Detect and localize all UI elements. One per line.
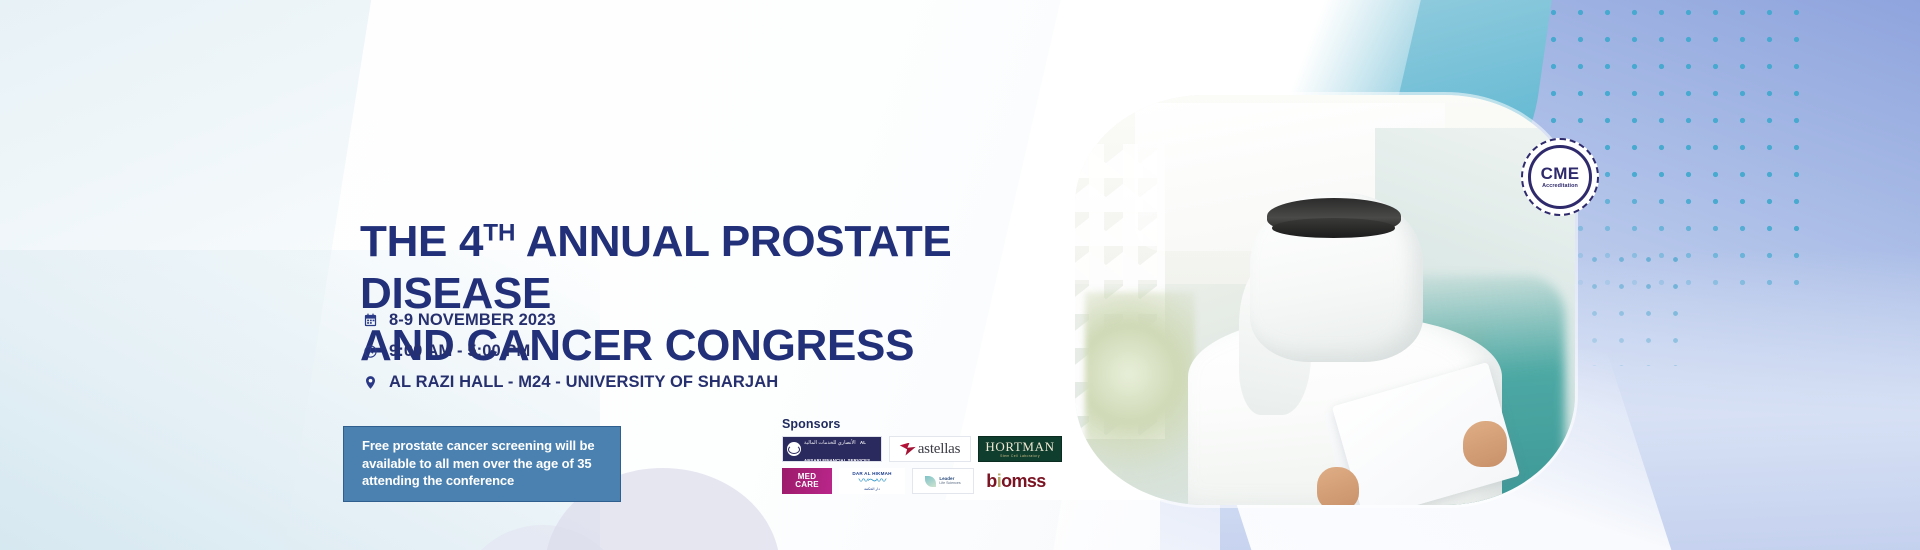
sponsor-logo-al-ansari[interactable]: الأنصاري للخدمات المالية AL ANSARI FINAN…: [782, 436, 882, 462]
biomss-pre: b: [986, 471, 996, 491]
al-ansari-emblem-icon: [787, 442, 801, 456]
dar-al-hikmah-arabic: دار الحكمة: [864, 487, 880, 491]
hero-photo: [1075, 95, 1575, 505]
event-date-row: 8-9 NOVEMBER 2023: [362, 308, 778, 333]
event-time-row: 9:00 AM - 5:00 PM: [362, 339, 778, 364]
free-screening-text: Free prostate cancer screening will be a…: [362, 437, 606, 490]
astellas-star-icon: [900, 443, 916, 456]
event-venue: AL RAZI HALL - M24 - UNIVERSITY OF SHARJ…: [389, 373, 778, 392]
hero-photo-image: [1075, 95, 1575, 505]
al-ansari-text: الأنصاري للخدمات المالية AL ANSARI FINAN…: [804, 436, 877, 462]
subject-hand-right: [1463, 421, 1508, 467]
al-ansari-arabic: الأنصاري للخدمات المالية: [804, 440, 856, 446]
hortman-wordmark: HORTMAN: [985, 440, 1054, 453]
sponsor-logo-hortman[interactable]: HORTMAN Stem Cell Laboratory: [978, 436, 1062, 462]
sponsor-logo-biomss[interactable]: biomss: [981, 468, 1051, 494]
event-details: 8-9 NOVEMBER 2023 9:00 AM - 5:00 PM: [362, 308, 778, 401]
title-line-1: THE 4TH ANNUAL PROSTATE DISEASE: [360, 217, 951, 318]
leader-text: Leader Life Sciences: [939, 476, 960, 485]
cme-badge-title: CME: [1541, 165, 1580, 182]
astellas-wordmark: astellas: [918, 441, 961, 458]
sponsor-logo-astellas[interactable]: astellas: [889, 436, 971, 462]
leader-leaf-icon: [925, 476, 936, 487]
title-prefix: THE 4: [360, 217, 483, 266]
sponsors-heading: Sponsors: [782, 417, 1082, 431]
biomss-post: omss: [1001, 471, 1046, 491]
cme-badge-subtitle: Accreditation: [1542, 184, 1578, 189]
biomss-wordmark: biomss: [986, 472, 1045, 490]
cme-badge-inner: CME Accreditation: [1528, 145, 1592, 209]
free-screening-callout: Free prostate cancer screening will be a…: [343, 426, 621, 502]
sponsors-row-2: MED CARE DAR AL HIKMAH 〰〜〰 دار الحكمة Le…: [782, 468, 1082, 494]
dar-al-hikmah-calligraphy-icon: 〰〜〰: [859, 476, 886, 487]
sponsor-logo-dar-al-hikmah[interactable]: DAR AL HIKMAH 〰〜〰 دار الحكمة: [839, 468, 905, 494]
clock-icon: [362, 343, 379, 360]
title-ordinal-suffix: TH: [483, 219, 515, 246]
subject-agal-lower: [1272, 218, 1395, 238]
hortman-tagline: Stem Cell Laboratory: [1000, 454, 1040, 458]
sponsor-logo-medcare[interactable]: MED CARE: [782, 468, 832, 494]
event-banner: CME Accreditation THE 4TH ANNUAL PROSTAT…: [0, 0, 1920, 550]
photo-subject-man: [1205, 185, 1485, 505]
sponsors-section: Sponsors الأنصاري للخدمات المالية AL ANS…: [782, 417, 1082, 500]
event-time: 9:00 AM - 5:00 PM: [389, 342, 530, 361]
subject-hand-left: [1317, 467, 1359, 505]
sponsors-row-1: الأنصاري للخدمات المالية AL ANSARI FINAN…: [782, 436, 1082, 462]
cme-accreditation-badge: CME Accreditation: [1521, 138, 1599, 216]
location-pin-icon: [362, 374, 379, 391]
event-venue-row: AL RAZI HALL - M24 - UNIVERSITY OF SHARJ…: [362, 370, 778, 395]
leader-subtitle: Life Sciences: [939, 481, 960, 485]
medcare-line-2: CARE: [795, 481, 818, 490]
calendar-icon: [362, 312, 379, 329]
sponsor-logo-leader-life-sciences[interactable]: Leader Life Sciences: [912, 468, 974, 494]
event-date: 8-9 NOVEMBER 2023: [389, 311, 556, 330]
